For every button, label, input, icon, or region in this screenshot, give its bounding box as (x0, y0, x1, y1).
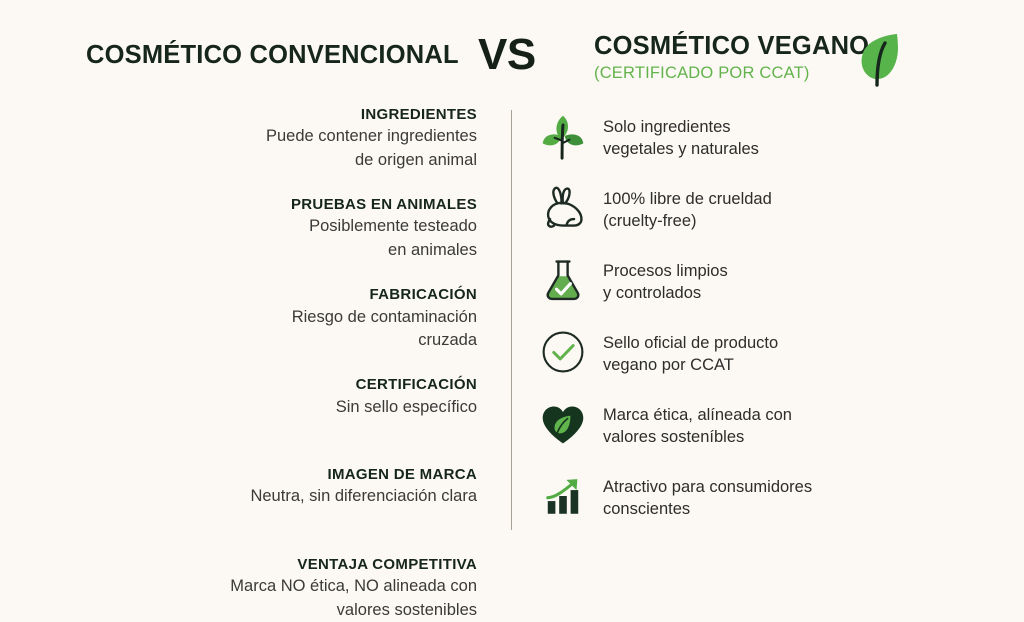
list-item-desc-line1: Marca NO ética, NO alineada con (150, 575, 477, 598)
list-item-desc-line1: Posiblemente testeado (150, 215, 477, 238)
list-item: PRUEBAS EN ANIMALES Posiblemente testead… (150, 194, 477, 262)
header: COSMÉTICO CONVENCIONAL VS COSMÉTICO VEGA… (0, 0, 1024, 100)
list-item-text: Atractivo para consumidores conscientes (603, 470, 812, 521)
list-item: Solo ingredientes vegetales y naturales (537, 110, 957, 182)
heart-leaf-icon (537, 398, 589, 450)
list-item: Atractivo para consumidores conscientes (537, 470, 957, 542)
list-item-text-line2: valores sosteníbles (603, 427, 792, 449)
list-item-desc-line1: Puede contener ingredientes (150, 125, 477, 148)
list-item-text-line2: vegetales y naturales (603, 139, 759, 161)
growth-chart-icon (537, 470, 589, 522)
vegan-list: Solo ingredientes vegetales y naturales … (537, 110, 957, 542)
list-item: Procesos limpios y controlados (537, 254, 957, 326)
list-item-desc-line2: valores sostenibles (150, 599, 477, 622)
right-column-title: COSMÉTICO VEGANO (594, 33, 869, 60)
list-item-text-line1: Marca ética, alíneada con (603, 405, 792, 427)
list-item-text-line1: Solo ingredientes (603, 117, 759, 139)
list-item-desc-line1: Riesgo de contaminación (150, 306, 477, 329)
list-item: IMAGEN DE MARCA Neutra, sin diferenciaci… (150, 464, 477, 509)
conventional-list: INGREDIENTES Puede contener ingredientes… (150, 104, 477, 622)
list-item-text: 100% libre de crueldad (cruelty-free) (603, 182, 772, 233)
list-item-text-line2: conscientes (603, 499, 812, 521)
flask-check-icon (537, 254, 589, 306)
list-item-desc-line1: Sin sello específico (150, 396, 477, 419)
list-item-label: CERTIFICACIÓN (150, 374, 477, 395)
left-column-title: COSMÉTICO CONVENCIONAL (86, 41, 459, 70)
list-item: INGREDIENTES Puede contener ingredientes… (150, 104, 477, 172)
list-item: VENTAJA COMPETITIVA Marca NO ética, NO a… (150, 554, 477, 622)
list-item-text-line1: Atractivo para consumidores (603, 477, 812, 499)
list-item-text-line2: y controlados (603, 283, 728, 305)
list-item-text-line2: (cruelty-free) (603, 211, 772, 233)
list-item-text-line1: Procesos limpios (603, 261, 728, 283)
list-item-label: FABRICACIÓN (150, 284, 477, 305)
list-item-label: VENTAJA COMPETITIVA (150, 554, 477, 575)
leaf-icon (857, 31, 901, 87)
list-item: FABRICACIÓN Riesgo de contaminación cruz… (150, 284, 477, 352)
list-item: 100% libre de crueldad (cruelty-free) (537, 182, 957, 254)
list-item-text: Solo ingredientes vegetales y naturales (603, 110, 759, 161)
rabbit-icon (537, 182, 589, 234)
list-item-desc-line2: de origen animal (150, 149, 477, 172)
list-item-text-line1: 100% libre de crueldad (603, 189, 772, 211)
list-item-text-line2: vegano por CCAT (603, 355, 778, 377)
list-item-desc-line1: Neutra, sin diferenciación clara (150, 485, 477, 508)
list-item-text: Marca ética, alíneada con valores sosten… (603, 398, 792, 449)
right-title-group: COSMÉTICO VEGANO (CERTIFICADO POR CCAT) (594, 33, 869, 82)
column-divider (511, 110, 512, 530)
sprout-icon (537, 110, 589, 162)
list-item-text: Sello oficial de producto vegano por CCA… (603, 326, 778, 377)
list-item-desc-line2: cruzada (150, 329, 477, 352)
list-item-text-line1: Sello oficial de producto (603, 333, 778, 355)
list-item-desc-line2: en animales (150, 239, 477, 262)
right-column-subtitle: (CERTIFICADO POR CCAT) (594, 64, 869, 82)
circle-check-icon (537, 326, 589, 378)
list-item-label: IMAGEN DE MARCA (150, 464, 477, 485)
list-item-label: INGREDIENTES (150, 104, 477, 125)
list-item-text: Procesos limpios y controlados (603, 254, 728, 305)
list-item: CERTIFICACIÓN Sin sello específico (150, 374, 477, 419)
list-item: Marca ética, alíneada con valores sosten… (537, 398, 957, 470)
list-item: Sello oficial de producto vegano por CCA… (537, 326, 957, 398)
list-item-label: PRUEBAS EN ANIMALES (150, 194, 477, 215)
vs-label: VS (478, 30, 536, 80)
